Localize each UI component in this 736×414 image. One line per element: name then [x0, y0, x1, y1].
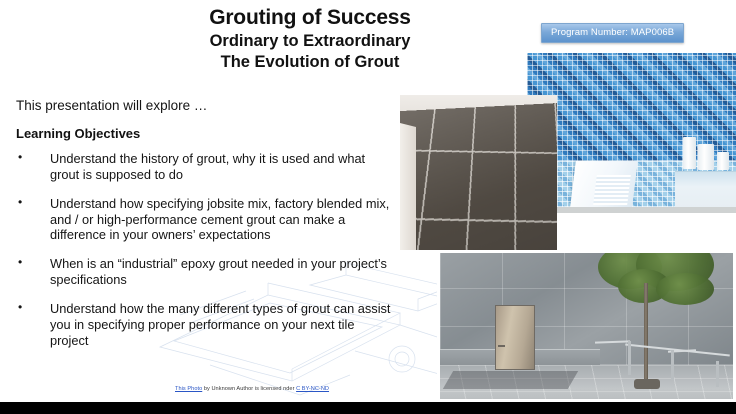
attribution-photo-link[interactable]: This Photo — [175, 386, 202, 392]
page-subtitle-1: Ordinary to Extraordinary — [120, 31, 500, 52]
list-item: Understand how the many different types … — [16, 301, 396, 349]
mosaic-towel-folded — [593, 175, 631, 205]
tree-trunk — [644, 283, 648, 385]
mosaic-floor-strip — [527, 207, 736, 213]
facade-metal-door — [495, 305, 535, 370]
facade-rail-post — [716, 361, 719, 387]
mosaic-counter — [675, 171, 736, 208]
tree-base-grate — [634, 379, 660, 389]
attribution-middle-text: by Unknown Author is licensed nder — [202, 386, 296, 392]
facade-door-handle — [498, 345, 505, 347]
photo-gray-floor-tile — [400, 95, 557, 250]
mosaic-jar — [683, 137, 696, 169]
photo-blue-mosaic-bathroom — [527, 53, 736, 213]
list-item: Understand how specifying jobsite mix, f… — [16, 196, 396, 244]
list-item: Understand the history of grout, why it … — [16, 151, 396, 183]
attribution-license-link[interactable]: C BY-NC-ND — [296, 386, 329, 392]
floor-shading — [400, 103, 557, 250]
learning-objectives-list: Understand the history of grout, why it … — [16, 151, 396, 362]
slide-title-block: Grouting of Success Ordinary to Extraord… — [120, 6, 500, 72]
photo-stone-facade — [437, 250, 736, 402]
mosaic-jar — [698, 144, 714, 170]
floor-photo-baseboard — [400, 123, 416, 250]
facade-shadow — [443, 371, 578, 389]
tree-canopy — [656, 273, 714, 305]
page-subtitle-2: The Evolution of Grout — [120, 52, 500, 73]
list-item: When is an “industrial” epoxy grout need… — [16, 256, 396, 288]
intro-line: This presentation will explore … — [16, 98, 207, 113]
bottom-letterbox-bar — [0, 402, 736, 414]
presentation-slide: Grouting of Success Ordinary to Extraord… — [0, 0, 736, 414]
facade-rail-post — [628, 341, 631, 375]
mosaic-jar — [717, 152, 729, 170]
photo-attribution: This Photo by Unknown Author is licensed… — [175, 386, 329, 392]
page-title: Grouting of Success — [120, 6, 500, 30]
floor-photo-tiles — [400, 103, 557, 250]
program-number-badge: Program Number: MAP006B — [541, 23, 684, 43]
learning-objectives-heading: Learning Objectives — [16, 126, 140, 141]
facade-rail-post — [671, 350, 674, 380]
